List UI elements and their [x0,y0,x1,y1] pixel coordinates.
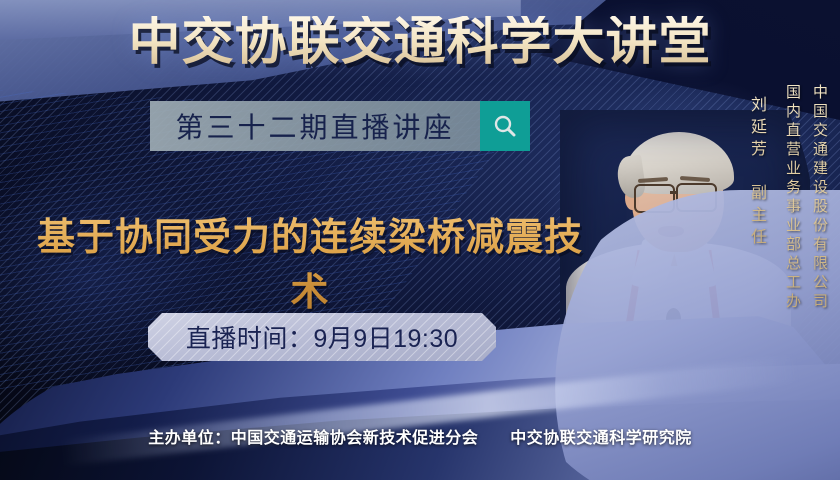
lecture-title: 基于协同受力的连续梁桥减震技术 [20,206,600,316]
footer-organizer-primary: 主办单位：中国交通运输协会新技术促进分会 [148,430,478,447]
page-title: 中交协联交通科学大讲堂 [0,16,840,68]
broadcast-time-text: 直播时间：9月9日19:30 [186,319,458,355]
episode-bar: 第三十二期直播讲座 [150,101,530,151]
search-button[interactable] [480,101,530,151]
footer-organizers: 主办单位：中国交通运输协会新技术促进分会 中交协联交通科学研究院 [0,424,840,448]
live-lecture-poster: 中交协联交通科学大讲堂 第三十二期直播讲座 基于协同受力的连续梁桥减震技术 直播… [0,0,840,480]
speaker-department: 国内直营业务事业部总工办 [782,84,803,312]
search-icon [492,113,518,139]
broadcast-time-badge: 直播时间：9月9日19:30 [148,313,496,361]
speaker-name-title: 刘延芳 副主任 [744,96,768,250]
speaker-company: 中国交通建设股份有限公司 [809,84,830,312]
footer-organizer-secondary: 中交协联交通科学研究院 [510,430,692,447]
episode-label: 第三十二期直播讲座 [150,101,480,151]
